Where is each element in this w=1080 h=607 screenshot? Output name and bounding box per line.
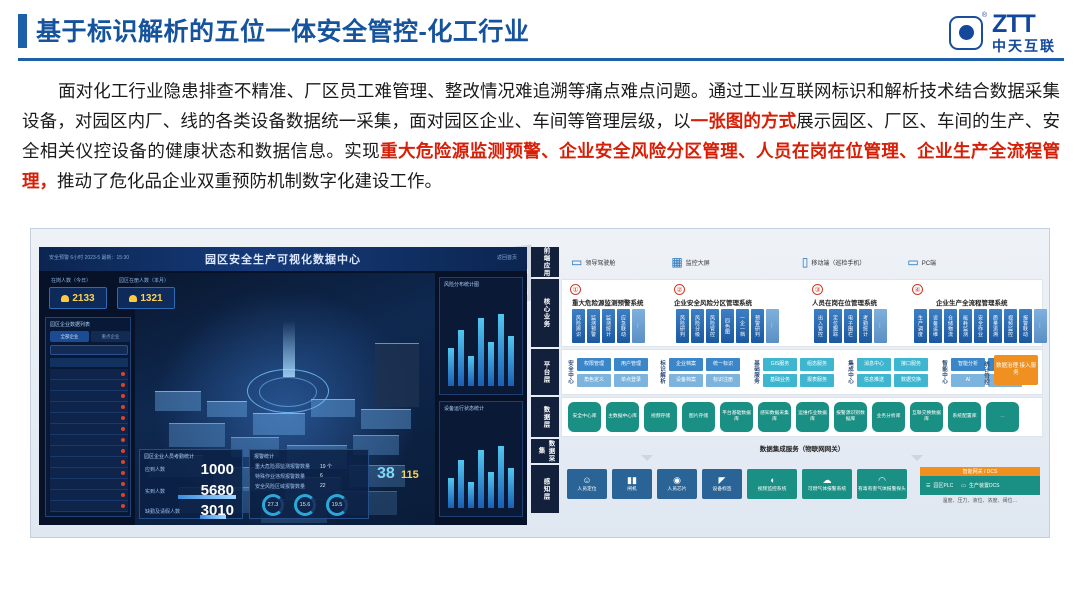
platform-right-label: 统计管控 xyxy=(982,360,990,386)
sensor-device-tag[interactable]: ◤ 设备标签 xyxy=(702,469,742,499)
architecture-diagram: 前端应用 ▭ 领导驾驶舱 ▦ 监控大屏 ▯ 移动端（巡检手机） xyxy=(531,247,1043,529)
device-status-chart: 设备运行状态统计 xyxy=(439,401,523,517)
lane-label-perception: 感知层 xyxy=(531,465,559,513)
group-chips-2: 风险研判 风险分级 风险管控 四色图 一企一档 预警研判 … xyxy=(676,309,779,343)
figure-panel: 联网产业联盟 Industrial Internet 安全预警 6小时 2023… xyxy=(30,228,1050,538)
alarm-big-number: 38 xyxy=(377,465,395,483)
platform-cell[interactable]: 统一标识 xyxy=(706,358,740,371)
device-pc[interactable]: ▭ PC端 xyxy=(907,256,936,268)
group-title-1: 重大危险源监测预警系统 xyxy=(572,297,644,307)
registered-icon: ® xyxy=(982,12,987,19)
platform-cell[interactable]: 角色定义 xyxy=(577,374,611,387)
plc-label-0: 园区PLC xyxy=(933,482,953,489)
sensor-label-2: 人员芯片 xyxy=(667,487,686,493)
platform-cell[interactable]: 消息中心 xyxy=(857,358,891,371)
group-number-3: ③ xyxy=(812,284,823,295)
highlight-phrase-1: 一张图的方式 xyxy=(691,111,797,131)
platform-cell[interactable]: 智能分析 xyxy=(951,358,985,371)
data-cell[interactable]: … xyxy=(986,402,1019,432)
platform-cell[interactable]: 设备档案 xyxy=(669,374,703,387)
chip[interactable]: 电子围栏 xyxy=(844,309,857,343)
kpi-value-1: 1321 xyxy=(140,293,162,304)
platform-cell[interactable]: 权限管理 xyxy=(577,358,611,371)
dashboard-topbar: 安全预警 6小时 2023-5 最新：15:30 园区安全生产可视化数据中心 返… xyxy=(39,247,527,271)
lane-label-frontend: 前端应用 xyxy=(531,247,559,277)
data-cell[interactable]: 图片存储 xyxy=(682,402,715,432)
tv-icon: ▭ xyxy=(571,256,582,268)
sensor-video-system[interactable]: ◖ 视频监控系统 xyxy=(747,469,797,499)
enterprise-list-title: 园区企业数据列表 xyxy=(50,321,90,328)
chip[interactable]: 四色图 xyxy=(721,309,734,343)
sensor-gate[interactable]: ▮▮ 闸机 xyxy=(612,469,652,499)
plc-signal-list: 温度、压力、液位、浓度、阀位… xyxy=(920,495,1040,504)
chip[interactable]: … xyxy=(874,309,887,343)
chip[interactable]: 预警研判 xyxy=(751,309,764,343)
platform-group-label-0: 安全中心 xyxy=(566,360,574,384)
chip[interactable]: 安全作业 xyxy=(974,309,987,343)
platform-cell[interactable]: 报表服务 xyxy=(800,374,834,387)
lane-label-data: 数据层 xyxy=(531,397,559,437)
group-number-1: ① xyxy=(570,284,581,295)
data-governance-button[interactable]: 数据治理 接入服务 xyxy=(994,355,1038,385)
chip[interactable]: … xyxy=(766,309,779,343)
enterprise-list-tabs: 全部企业 重点企业 xyxy=(50,331,130,342)
platform-cell[interactable]: 单点登录 xyxy=(614,374,648,387)
person-icon: ☺ xyxy=(582,476,591,485)
platform-group-security: 安全中心 权限管理 角色定义 用户管理 单点登录 xyxy=(566,350,648,394)
platform-cell[interactable]: 用户管理 xyxy=(614,358,648,371)
lane-body-core: ① 重大危险源监测预警系统 风险辨识 监测预警 监测统计 应急联动 … ② 企业… xyxy=(561,279,1043,347)
title-accent-bar xyxy=(18,14,27,48)
lane-label-platform: 平台层 xyxy=(531,349,559,395)
list-item[interactable] xyxy=(50,479,128,490)
alarm-label-0: 重大危险源监测报警数量 xyxy=(255,463,310,470)
sensor-green-label-0: 视频监控系统 xyxy=(758,487,787,493)
device-label-2: 移动端（巡检手机） xyxy=(811,258,865,267)
device-leader-cockpit[interactable]: ▭ 领导驾驶舱 xyxy=(571,256,615,268)
platform-group-label-1: 标识解析 xyxy=(658,360,666,384)
kpi-box-0[interactable]: 2133 xyxy=(49,287,107,309)
list-item[interactable] xyxy=(50,369,128,380)
data-cell[interactable]: 安全中心库 xyxy=(568,402,601,432)
device-mobile[interactable]: ▯ 移动端（巡检手机） xyxy=(802,256,866,268)
alarm-small-number: 115 xyxy=(401,469,419,481)
dashboard-home-link[interactable]: 返回首页 xyxy=(497,254,517,261)
dashboard-title: 园区安全生产可视化数据中心 xyxy=(205,251,361,267)
gate-icon: ▮▮ xyxy=(627,476,637,485)
chip[interactable]: … xyxy=(1034,309,1047,343)
chip[interactable]: 风险研判 xyxy=(676,309,689,343)
lane-body-platform: 安全中心 权限管理 角色定义 用户管理 单点登录 标识解析 xyxy=(561,349,1043,395)
group-chips-1: 风险辨识 监测预警 监测统计 应急联动 … xyxy=(572,309,645,343)
enterprise-list-header xyxy=(50,358,128,367)
kpi-caption-0: 在岗人数（今日） xyxy=(51,277,91,284)
list-item[interactable] xyxy=(50,402,128,413)
chip[interactable]: 风险管控 xyxy=(706,309,719,343)
chip[interactable]: 监测预警 xyxy=(587,309,600,343)
sensor-label-3: 设备标签 xyxy=(712,487,731,493)
platform-group-basic: 基础服务 GIS服务 基础业务 组态服务 报表服务 xyxy=(752,350,834,394)
sensor-green-label-1: 可燃气体报警系统 xyxy=(808,487,846,493)
monitor-icon: ▭ xyxy=(907,256,918,268)
group-number-2: ② xyxy=(674,284,685,295)
chip[interactable]: 能耗监测 xyxy=(959,309,972,343)
sensor-label-0: 人员定位 xyxy=(577,487,596,493)
sensor-gas-alarm[interactable]: ☁ 可燃气体报警系统 xyxy=(802,469,852,499)
database-icon: ☰ xyxy=(926,483,930,489)
risk-chart-title: 风险分布统计图 xyxy=(444,281,479,288)
platform-group-label-2: 基础服务 xyxy=(752,360,760,384)
data-cell[interactable]: 主数据中心库 xyxy=(606,402,639,432)
list-item[interactable] xyxy=(50,490,128,501)
chip[interactable]: 质量追溯 xyxy=(989,309,1002,343)
chip[interactable]: 应急联动 xyxy=(617,309,630,343)
device-label-3: PC端 xyxy=(922,258,936,267)
header-divider xyxy=(18,58,1064,61)
slide-header: 基于标识解析的五位一体安全管控-化工行业 ® ZTT 中天互联 xyxy=(0,0,1080,64)
enterprise-list-panel: 园区企业数据列表 全部企业 重点企业 xyxy=(45,317,131,517)
video-wall-icon: ▦ xyxy=(671,256,682,268)
attendance-label-0: 应到人数 xyxy=(145,466,165,473)
sensor-person-locating[interactable]: ☺ 人员定位 xyxy=(567,469,607,499)
chip[interactable]: 仓储物流 xyxy=(944,309,957,343)
dashboard-screenshot: 安全预警 6小时 2023-5 最新：15:30 园区安全生产可视化数据中心 返… xyxy=(39,247,527,525)
attendance-card-title: 园区企业人员考勤统计 xyxy=(144,453,194,460)
alarm-label-2: 安全风险区域报警数量 xyxy=(255,483,305,490)
chip[interactable]: 一企一档 xyxy=(736,309,749,343)
data-cell[interactable]: 系统配置库 xyxy=(948,402,981,432)
tab-all-enterprises[interactable]: 全部企业 xyxy=(50,331,89,342)
platform-cell[interactable]: 数据交换 xyxy=(894,374,928,387)
attendance-label-2: 缺勤及请假人数 xyxy=(145,508,180,515)
plc-label-1: 生产装置DCS xyxy=(969,482,1000,489)
platform-group-label-3: 集成中心 xyxy=(846,360,854,384)
group-title-4: 企业生产全流程管理系统 xyxy=(936,297,1008,307)
tab-key-enterprises[interactable]: 重点企业 xyxy=(91,331,130,342)
group-chips-3: 出入管控 定位跟踪 电子围栏 考勤统计 … xyxy=(814,309,887,343)
map-marker-beam xyxy=(283,321,295,377)
kpi-value-0: 2133 xyxy=(72,293,94,304)
sensor-toxic-gas-detector[interactable]: ◠ 有毒有害气体报警探头 xyxy=(857,469,907,499)
list-item[interactable] xyxy=(50,435,128,446)
list-item[interactable] xyxy=(50,446,128,457)
group-title-3: 人员在岗在位管理系统 xyxy=(812,297,877,307)
device-label-1: 监控大屏 xyxy=(686,258,710,267)
gateway-label: 数据集成服务（物联网网关） xyxy=(760,443,845,453)
group-chips-4: 生产调度 设备运维 仓储物流 能耗监测 安全作业 质量追溯 视频监控 报警联动 … xyxy=(914,309,1047,343)
meter-icon: ◠ xyxy=(878,476,886,485)
platform-group-integration: 集成中心 消息中心 信息推送 接口服务 数据交换 xyxy=(846,350,928,394)
platform-cell[interactable]: 企业档案 xyxy=(669,358,703,371)
group-title-2: 企业安全风险分区管理系统 xyxy=(674,297,752,307)
list-item[interactable] xyxy=(50,457,128,468)
lane-body-data: 安全中心库 主数据中心库 视频存储 图片存储 平台基础数据库 感知数据采集库 运… xyxy=(561,397,1043,437)
data-cell[interactable]: 互联交换数据库 xyxy=(910,402,943,432)
kpi-caption-1: 园区在册人数（本月） xyxy=(119,277,169,284)
group-number-4: ④ xyxy=(912,284,923,295)
plc-dcs-group: 智能网关 / DCS ☰ 园区PLC ▭ 生产装置DCS 温度、压力、液位、浓度… xyxy=(920,467,1040,504)
helmet-icon xyxy=(61,295,69,302)
platform-cell[interactable]: AI xyxy=(951,374,985,387)
alarm-stat-card: 报警统计 重大危险源监测报警数量 19 个 特殊作业违规报警数量 6 安全风险区… xyxy=(249,449,369,519)
plc-item-park[interactable]: ☰ 园区PLC xyxy=(926,482,953,489)
data-cell[interactable]: 感知数据采集库 xyxy=(758,402,791,432)
paragraph-part-3: 推动了危化品企业双重预防机制数字化建设工作。 xyxy=(57,171,442,191)
alarm-card-title: 报警统计 xyxy=(254,453,274,460)
device-icon: ▭ xyxy=(961,483,966,489)
lane-body-perception: ☺ 人员定位 ▮▮ 闸机 ◉ 人员芯片 ◤ 设备标签 xyxy=(561,465,1043,513)
logo-brand-cn-text: 中天互联 xyxy=(992,39,1056,53)
phone-icon: ▯ xyxy=(802,256,809,268)
body-paragraph: 面对化工行业隐患排查不精准、厂区员工难管理、整改情况难追溯等痛点难点问题。通过工… xyxy=(22,76,1060,196)
platform-cell[interactable]: GIS服务 xyxy=(763,358,797,371)
camera-icon: ◖ xyxy=(769,476,774,485)
page-title: 基于标识解析的五位一体安全管控-化工行业 xyxy=(36,12,529,48)
enterprise-search-input[interactable] xyxy=(50,345,128,355)
list-item[interactable] xyxy=(50,380,128,391)
gauge-1: 15.6 xyxy=(294,494,316,516)
gas-icon: ☁ xyxy=(823,476,832,485)
plc-item-dcs[interactable]: ▭ 生产装置DCS xyxy=(961,482,999,489)
data-cell[interactable]: 报警源识别数据库 xyxy=(834,402,867,432)
chip[interactable]: 报警联动 xyxy=(1019,309,1032,343)
chip[interactable]: 风险辨识 xyxy=(572,309,585,343)
chip[interactable]: 监测统计 xyxy=(602,309,615,343)
alarm-label-1: 特殊作业违规报警数量 xyxy=(255,473,305,480)
plc-group-header: 智能网关 / DCS xyxy=(920,467,1040,476)
sensor-label-1: 闸机 xyxy=(627,487,637,493)
platform-cell[interactable]: 标识注册 xyxy=(706,374,740,387)
risk-distribution-chart: 风险分布统计图 xyxy=(439,277,523,395)
lane-label-collect: 数据采集 xyxy=(531,439,559,463)
sensor-green-label-2: 有毒有害气体报警探头 xyxy=(858,487,906,493)
lane-body-frontend: ▭ 领导驾驶舱 ▦ 监控大屏 ▯ 移动端（巡检手机） ▭ PC端 xyxy=(561,247,1043,277)
helmet-icon-2 xyxy=(129,295,137,302)
alarm-value-2: 22 xyxy=(320,483,326,489)
list-item[interactable] xyxy=(50,468,128,479)
sensor-person-chip[interactable]: ◉ 人员芯片 xyxy=(657,469,697,499)
device-chart-title: 设备运行状态统计 xyxy=(444,405,484,412)
chip[interactable]: 设备运维 xyxy=(929,309,942,343)
platform-group-label-4: 智能中心 xyxy=(940,360,948,384)
alarm-value-1: 6 xyxy=(320,473,323,479)
kpi-box-1[interactable]: 1321 xyxy=(117,287,175,309)
platform-group-identity: 标识解析 企业档案 设备档案 统一标识 标识注册 xyxy=(658,350,740,394)
chip[interactable]: 视频监控 xyxy=(1004,309,1017,343)
gauge-2: 19.5 xyxy=(326,494,348,516)
chip[interactable]: 定位跟踪 xyxy=(829,309,842,343)
brand-logo: ® ZTT 中天互联 xyxy=(946,12,1056,53)
platform-cell[interactable]: 接口服务 xyxy=(894,358,928,371)
attendance-value-0: 1000 xyxy=(201,461,234,478)
device-monitor-wall[interactable]: ▦ 监控大屏 xyxy=(671,256,709,268)
location-icon: ◉ xyxy=(673,476,681,485)
data-cell[interactable]: 视频存储 xyxy=(644,402,677,432)
platform-cell[interactable]: 基础业务 xyxy=(763,374,797,387)
dashboard-topbar-left-text: 安全预警 6小时 2023-5 最新：15:30 xyxy=(49,254,129,261)
chip[interactable]: 风险分级 xyxy=(691,309,704,343)
list-item[interactable] xyxy=(50,501,128,512)
list-item[interactable] xyxy=(50,413,128,424)
data-cell[interactable]: 运维作业数据库 xyxy=(796,402,829,432)
data-cell-row: 安全中心库 主数据中心库 视频存储 图片存储 平台基础数据库 感知数据采集库 运… xyxy=(562,398,1042,436)
map-focus-ring-inner xyxy=(259,377,317,407)
logo-brand-text: ZTT xyxy=(992,12,1056,37)
chip[interactable]: 考勤统计 xyxy=(859,309,872,343)
tag-icon: ◤ xyxy=(719,476,726,485)
platform-cell[interactable]: 组态服务 xyxy=(800,358,834,371)
platform-cell[interactable]: 信息推送 xyxy=(857,374,891,387)
attendance-label-1: 实到人数 xyxy=(145,488,165,495)
slide-page: 基于标识解析的五位一体安全管控-化工行业 ® ZTT 中天互联 面对化工行业隐患… xyxy=(0,0,1080,607)
lane-body-collect: 数据集成服务（物联网网关） xyxy=(561,439,1043,463)
logo-mark-icon: ® xyxy=(946,13,986,53)
gauge-0: 27.3 xyxy=(262,494,284,516)
list-item[interactable] xyxy=(50,424,128,435)
chip[interactable]: 出入管控 xyxy=(814,309,827,343)
alarm-value-0: 19 个 xyxy=(320,463,332,470)
list-item[interactable] xyxy=(50,391,128,402)
chip[interactable]: … xyxy=(632,309,645,343)
chip[interactable]: 生产调度 xyxy=(914,309,927,343)
attendance-stat-card: 园区企业人员考勤统计 应到人数 1000 实到人数 5680 缺勤及请假人数 3… xyxy=(139,449,243,519)
device-label-0: 领导驾驶舱 xyxy=(585,258,615,267)
lane-label-core: 核心业务 xyxy=(531,279,559,347)
data-cell[interactable]: 平台基础数据库 xyxy=(720,402,753,432)
data-cell[interactable]: 业务分析库 xyxy=(872,402,905,432)
